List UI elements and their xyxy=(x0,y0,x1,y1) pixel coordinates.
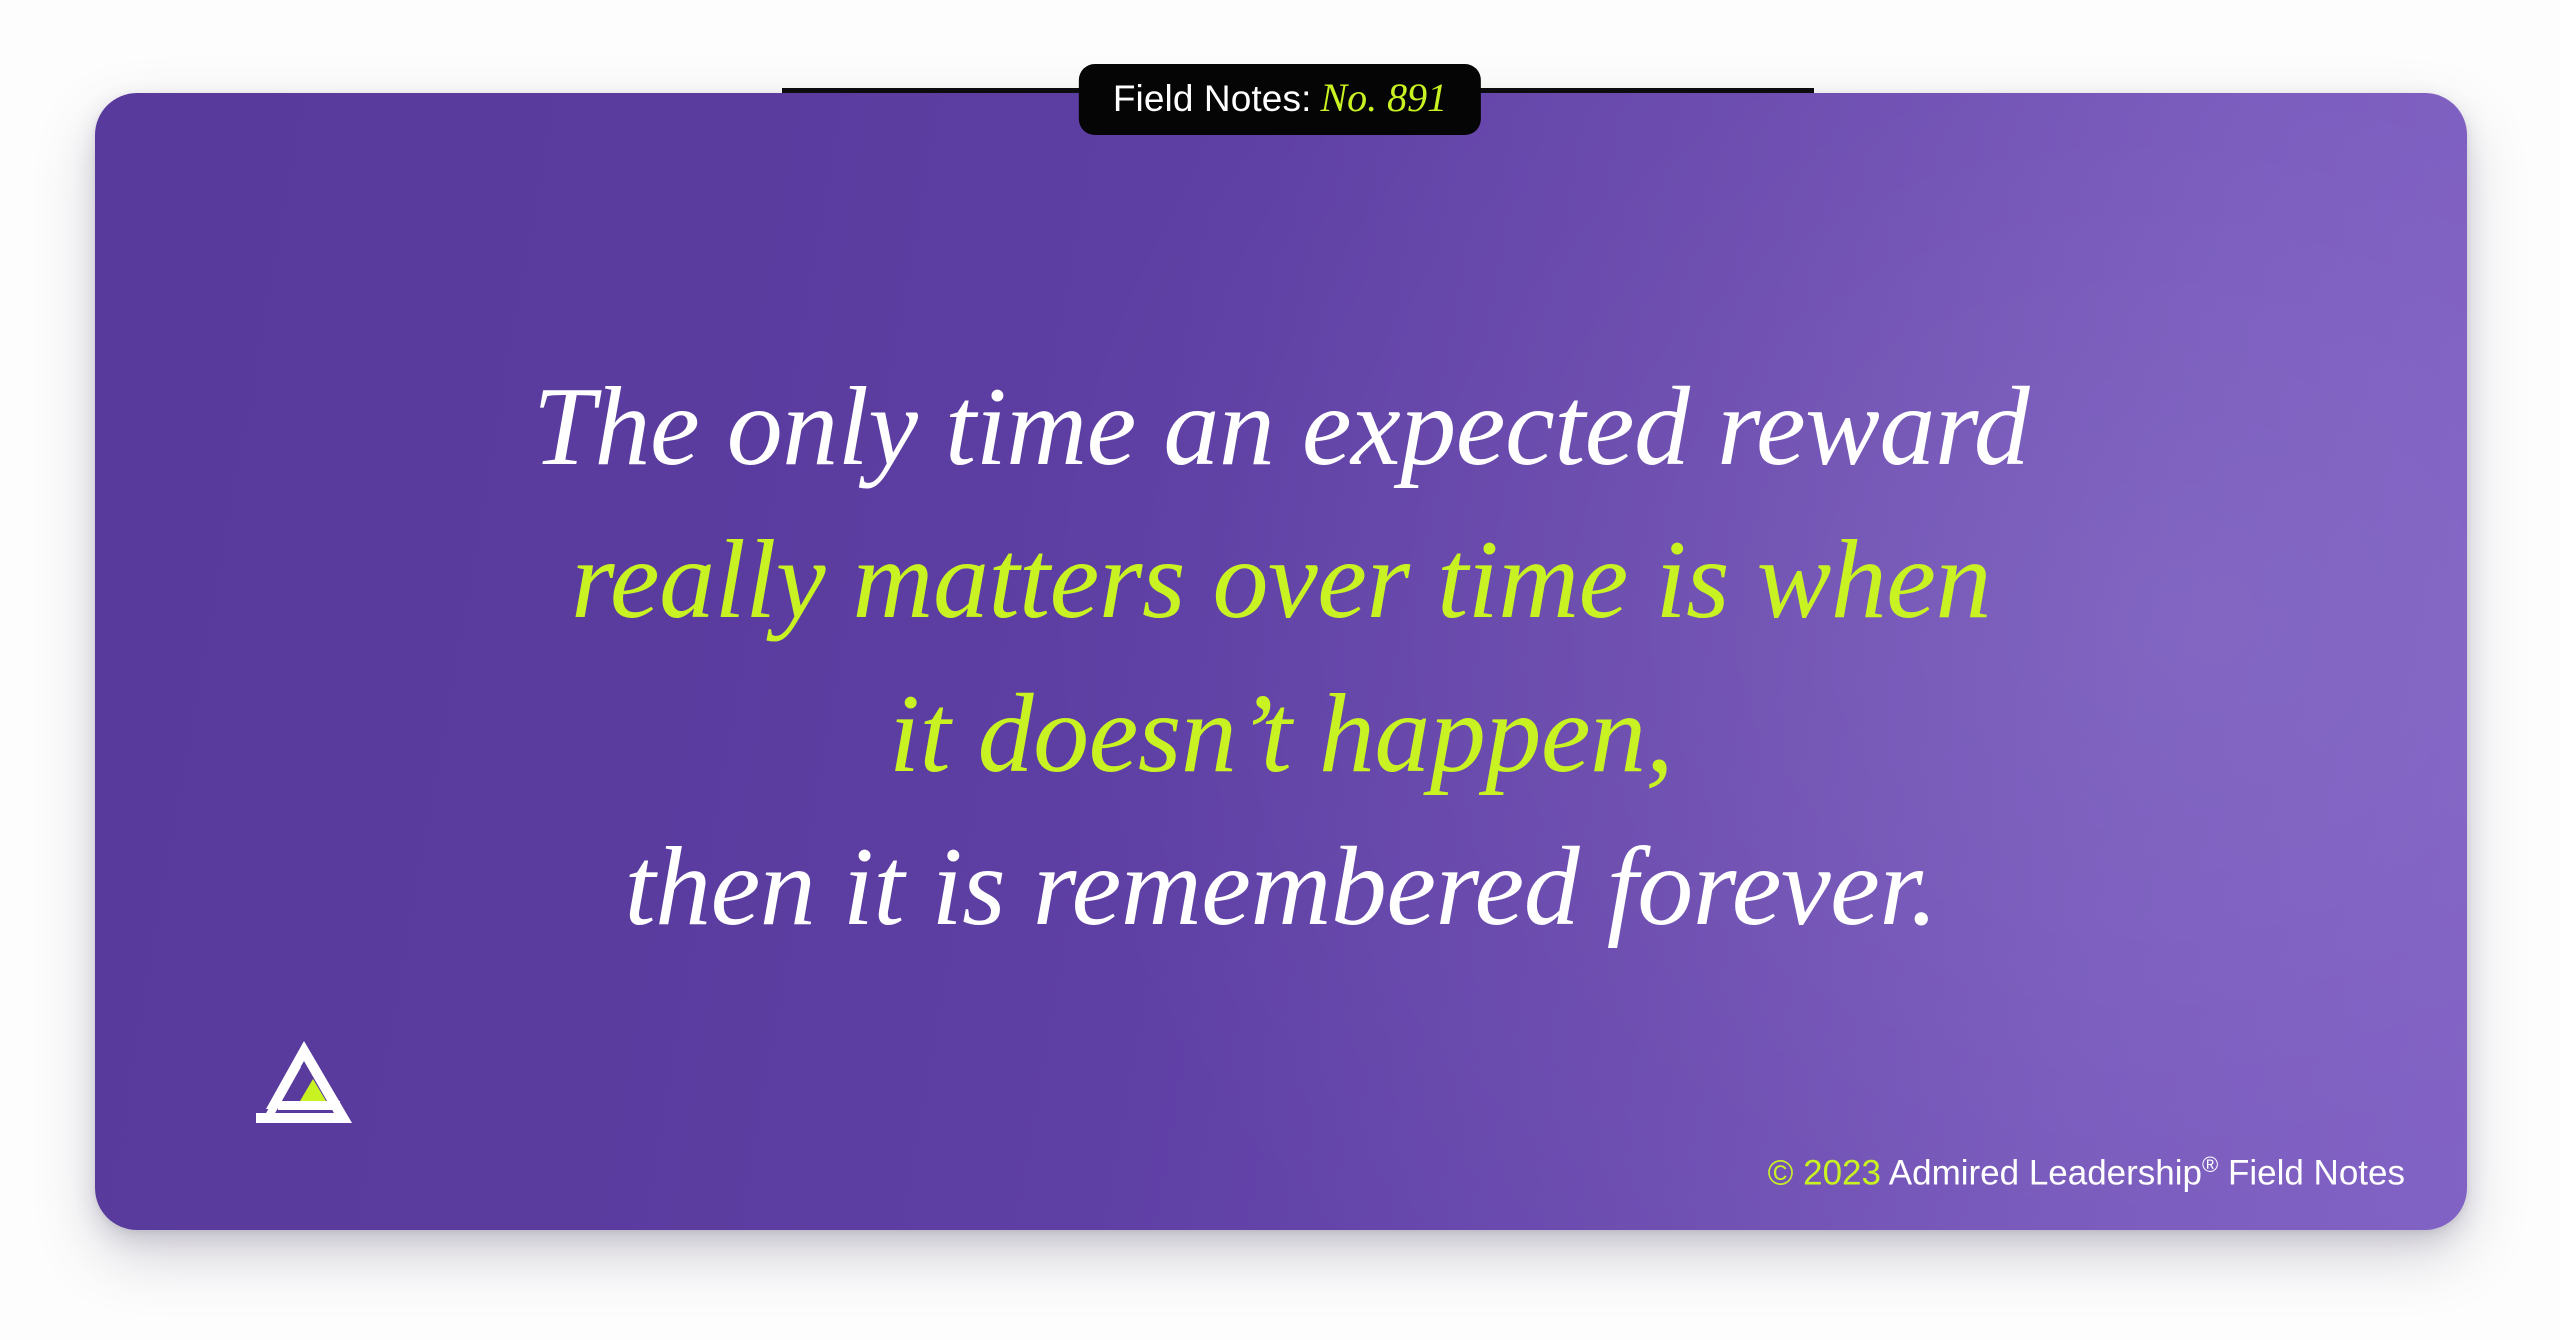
quote-line-2: really matters over time is when xyxy=(215,504,2347,657)
footer-copyright: © 2023 Admired Leadership® Field Notes xyxy=(1768,1152,2405,1194)
quote-line-1: The only time an expected reward xyxy=(215,351,2347,504)
quote-line-3: it doesn’t happen, xyxy=(215,658,2347,811)
footer-copyright-year: © 2023 xyxy=(1768,1154,1881,1193)
logo-triangle-icon xyxy=(252,1039,356,1125)
page-root: The only time an expected reward really … xyxy=(0,0,2560,1340)
field-note-card: The only time an expected reward really … xyxy=(95,93,2467,1230)
field-notes-badge: Field Notes:No. 891 xyxy=(1079,64,1481,135)
badge-label: Field Notes: xyxy=(1113,78,1312,119)
badge-number: No. 891 xyxy=(1320,75,1447,120)
footer-suffix: Field Notes xyxy=(2228,1154,2405,1193)
admired-leadership-logo xyxy=(252,1039,356,1125)
quote-text: The only time an expected reward really … xyxy=(95,351,2467,965)
footer-registered-mark: ® xyxy=(2202,1152,2218,1177)
footer-brand: Admired Leadership xyxy=(1889,1154,2202,1193)
quote-line-4: then it is remembered forever. xyxy=(215,811,2347,964)
